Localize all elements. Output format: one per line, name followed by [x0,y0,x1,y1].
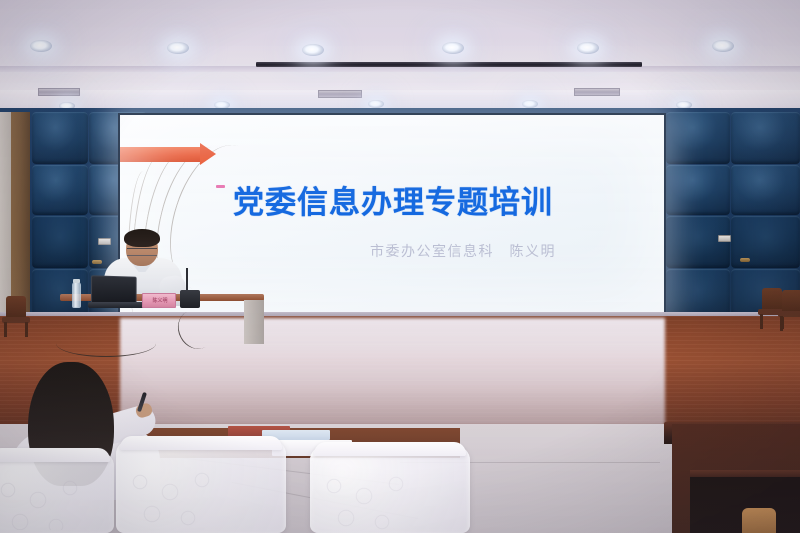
ceiling-surface [0,0,800,96]
covered-chair[interactable] [0,452,114,533]
bottle-cap [73,279,80,283]
slide-arrow-graphic [120,147,200,162]
chair-leg [780,316,783,331]
ceiling-light [30,40,52,52]
chair-leg [4,322,7,337]
presenter-hair [124,229,160,247]
chair-back [6,296,26,318]
floor-cable [56,330,156,357]
side-chair[interactable] [778,290,800,330]
covered-chair[interactable] [310,446,470,533]
wall-panel [32,165,88,215]
covered-chair-top [314,442,466,456]
slide-title: 党委信息办理专题培训 [128,177,658,222]
wall-panel [731,165,800,215]
ceiling-light [442,42,464,54]
door-handle[interactable] [92,260,102,264]
wall-panel [32,112,88,164]
projection-screen: 党委信息办理专题培训 市委办公室信息科 陈义明 [120,115,664,313]
soffit-light [522,100,538,108]
microphone-base[interactable] [180,290,200,308]
wooden-chair-arm[interactable] [742,508,776,533]
wall-panel [666,112,730,164]
chair-leg [760,314,763,329]
projector-screen-housing-slot [256,62,642,67]
laptop-screen[interactable] [91,275,137,305]
covered-chair-top [0,448,110,462]
ceiling-light [302,44,324,56]
air-vent [574,88,620,96]
wall-panel [32,216,88,268]
slide-subtitle: 市委办公室信息科 陈义明 [370,241,650,261]
conference-room-photo: 党委信息办理专题培训 市委办公室信息科 陈义明 [0,0,800,533]
door-handle[interactable] [740,258,750,262]
light-switch-plate[interactable] [718,235,731,242]
covered-chair[interactable] [116,440,286,533]
light-switch-plate[interactable] [98,238,111,245]
podium-side-panel [244,300,264,344]
eyeglasses [127,248,157,256]
ceiling-light [167,42,189,54]
nameplate-text: 陈义明 [143,297,177,304]
covered-chair-top [120,436,282,450]
soffit-light [368,100,384,108]
chair-leg [25,322,28,337]
side-chair[interactable] [2,296,30,336]
microphone-stem [186,268,188,292]
air-vent [318,90,362,98]
wall-panel [666,165,730,215]
chair-back [782,290,800,312]
wall-panel [666,216,730,268]
foreground-table-shelf [690,470,800,477]
water-bottle [72,282,81,308]
laptop-keyboard[interactable] [88,302,144,308]
air-vent [38,88,80,96]
ceiling-light [712,40,734,52]
wall-panel [731,112,800,164]
wall-edge-trim [0,112,11,322]
nameplate: 陈义明 [142,293,176,308]
ceiling-light [577,42,599,54]
